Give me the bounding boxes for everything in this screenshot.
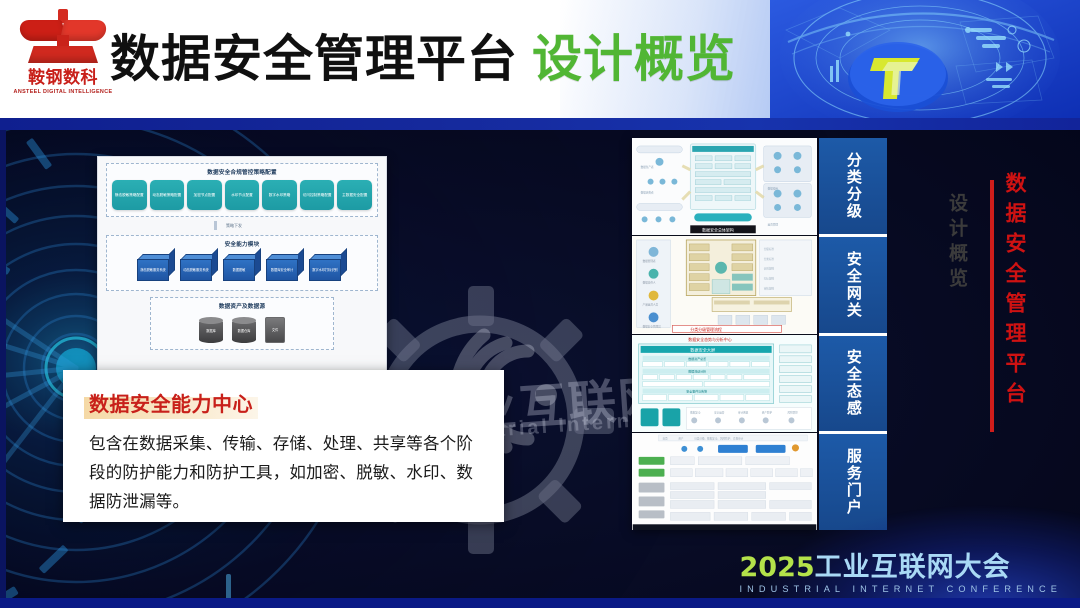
svg-text:审核规则: 审核规则 <box>764 287 775 291</box>
policy-chip[interactable]: 水印节点配置 <box>225 180 260 210</box>
page-title-main: 数据安全管理平台 <box>110 34 518 84</box>
conference-year: 2025 <box>740 552 815 583</box>
svg-text:数据安全管理员: 数据安全管理员 <box>643 325 661 329</box>
svg-text:识别规则: 识别规则 <box>764 267 775 271</box>
caption-body: 包含在数据采集、传输、存储、处理、共享等各个阶段的防护能力和防护工具，如加密、脱… <box>89 429 478 516</box>
server-rack-icon[interactable]: 文件 <box>265 317 285 343</box>
side-title: 数据安全管理平台 <box>1000 172 1030 417</box>
svg-text:数据管理者: 数据管理者 <box>643 259 656 263</box>
policy-chip-row: 静态脱敏策略配置 动态脱敏策略配置 加密节点配置 水印节点配置 数字水印策略 访… <box>112 180 372 210</box>
left-accent-bar <box>0 130 6 608</box>
svg-text:数据安全: 数据安全 <box>690 410 701 414</box>
svg-text:安全事件与告警: 安全事件与告警 <box>686 388 707 393</box>
database-cylinder-icon[interactable]: 数据库 <box>199 317 223 343</box>
svg-text:产品运营人员: 产品运营人员 <box>643 303 659 307</box>
page-title-accent: 设计概览 <box>532 34 736 84</box>
svg-text:数据使用: 数据使用 <box>768 187 779 191</box>
capability-cube-label: 动态脱敏服务系统 <box>180 259 212 281</box>
capability-cube-label: 静态脱敏服务系统 <box>137 259 169 281</box>
svg-text:首页: 首页 <box>662 436 668 440</box>
database-cylinder-icon[interactable]: 数据仓库 <box>232 317 256 343</box>
svg-text:资产: 资产 <box>678 436 684 440</box>
svg-text:数据流动分析: 数据流动分析 <box>688 368 706 373</box>
data-security-architecture-thumb[interactable]: 数据生产者数据消费者 数据使用运营管理 数据安全总体架构 <box>632 138 817 236</box>
bottom-accent-bar <box>0 598 1080 608</box>
data-asset-section: 数据资产及数据源 数据库 数据仓库 文件 <box>150 297 334 350</box>
thumb-title: 数据安全态势与分析中心 <box>688 336 732 341</box>
svg-text:风险管控: 风险管控 <box>788 410 799 414</box>
asset-store-label: 数据仓库 <box>232 328 256 333</box>
page-title: 数据安全管理平台 设计概览 <box>110 20 736 98</box>
policy-chip[interactable]: 访问控制策略配置 <box>300 180 335 210</box>
svg-text:数据责任人: 数据责任人 <box>643 281 656 285</box>
tab-gateway[interactable]: 安全网关 <box>819 237 887 336</box>
svg-text:运营管理: 运营管理 <box>768 222 779 226</box>
anshan-steel-logo-icon <box>14 9 112 67</box>
policy-chip[interactable]: 主数据安全配置 <box>337 180 372 210</box>
capability-cube-label: 数据库安全审计 <box>266 259 298 281</box>
logo-name-cn: 鞍钢数科 <box>14 68 112 88</box>
svg-text:打标规则: 打标规则 <box>764 277 775 281</box>
slide-header: 鞍钢数科 ANSTEEL DIGITAL INTELLIGENCE 数据安全管理… <box>0 0 1080 118</box>
security-capability-diagram: 数据安全合规管控策略配置 静态脱敏策略配置 动态脱敏策略配置 加密节点配置 水印… <box>97 156 387 380</box>
data-classification-flow-thumb[interactable]: 数据管理者数据责任人 产品运营人员数据安全管理员 <box>632 236 817 334</box>
capability-cube[interactable]: 动态脱敏服务系统 <box>180 254 218 281</box>
header-blue-rule <box>0 118 1080 130</box>
policy-chip[interactable]: 数字水印策略 <box>262 180 297 210</box>
side-subtitle-text: 设计概览 <box>944 193 971 293</box>
svg-text:数据生产者: 数据生产者 <box>641 165 654 169</box>
capability-cube[interactable]: 数据脱敏 <box>223 254 261 281</box>
conference-name-en: INDUSTRIAL INTERNET CONFERENCE <box>740 584 1062 594</box>
logo-name-en: ANSTEEL DIGITAL INTELLIGENCE <box>13 88 113 96</box>
capability-section-caption: 安全能力模块 <box>112 240 372 248</box>
slide-root: 鞍钢数科 ANSTEEL DIGITAL INTELLIGENCE 数据安全管理… <box>0 0 1080 608</box>
policy-chip[interactable]: 加密节点配置 <box>187 180 222 210</box>
capability-cube[interactable]: 静态脱敏服务系统 <box>137 254 175 281</box>
company-logo: 鞍钢数科 ANSTEEL DIGITAL INTELLIGENCE <box>14 9 112 109</box>
policy-section-caption: 数据安全合规管控策略配置 <box>112 168 372 176</box>
asset-store-label: 文件 <box>265 327 285 332</box>
thumb-title: 数据安全总体架构 <box>702 227 734 232</box>
security-situation-dashboard-thumb[interactable]: 数据安全态势与分析中心 数据安全大屏 数据资产总览 数据流动分析 <box>632 335 817 433</box>
side-title-rule <box>990 180 994 432</box>
policy-chip[interactable]: 静态脱敏策略配置 <box>112 180 147 210</box>
asset-store-row: 数据库 数据仓库 文件 <box>156 314 328 343</box>
tab-situation[interactable]: 安全态感 <box>819 336 887 435</box>
policy-chip[interactable]: 动态脱敏策略配置 <box>150 180 185 210</box>
side-title-text: 数据安全管理平台 <box>1000 172 1030 412</box>
svg-text:分类分级、数据安全、风险防护、合规审计: 分类分级、数据安全、风险防护、合规审计 <box>694 436 743 440</box>
svg-text:分类标准: 分类标准 <box>764 257 775 261</box>
svg-text:安全运营: 安全运营 <box>714 410 725 414</box>
conference-logo: 2025工业互联网大会 INDUSTRIAL INTERNET CONFEREN… <box>740 554 1062 594</box>
conference-name-cn: 工业互联网大会 <box>815 552 1011 583</box>
svg-text:数据消费者: 数据消费者 <box>641 191 654 195</box>
capability-cube[interactable]: 数字水印打标识别 <box>309 254 347 281</box>
capability-cube[interactable]: 数据库安全审计 <box>266 254 304 281</box>
svg-text:审计溯源: 审计溯源 <box>738 410 749 414</box>
flow-arrow-icon <box>214 221 217 230</box>
tab-classification[interactable]: 分类分级 <box>819 138 887 237</box>
policy-config-section: 数据安全合规管控策略配置 静态脱敏策略配置 动态脱敏策略配置 加密节点配置 水印… <box>106 163 378 217</box>
svg-text:数据安全大屏: 数据安全大屏 <box>690 346 715 352</box>
svg-text:数据资产总览: 数据资产总览 <box>688 355 706 360</box>
asset-store-label: 数据库 <box>199 328 223 333</box>
capability-module-section: 安全能力模块 静态脱敏服务系统 动态脱敏服务系统 数据脱敏 数据库安全审计 数字… <box>106 235 378 291</box>
tab-label: 安全态感 <box>845 349 861 417</box>
capability-cube-label: 数据脱敏 <box>223 259 255 281</box>
section-tabs: 分类分级 安全网关 安全态感 服务门户 <box>819 138 887 530</box>
policy-flow-arrow: 策略下发 <box>106 221 378 233</box>
thumb-title: 分类分级管理流程 <box>690 327 722 332</box>
caption-heading: 数据安全能力中心 <box>89 388 253 417</box>
side-subtitle: 设计概览 <box>944 193 971 298</box>
caption-card: 数据安全能力中心 包含在数据采集、传输、存储、处理、共享等各个阶段的防护能力和防… <box>63 370 504 522</box>
capability-cube-label: 数字水印打标识别 <box>309 259 341 281</box>
tab-label: 分类分级 <box>845 152 861 220</box>
svg-text:资产防护: 资产防护 <box>762 410 773 414</box>
tab-label: 安全网关 <box>845 251 861 319</box>
capability-cube-row: 静态脱敏服务系统 动态脱敏服务系统 数据脱敏 数据库安全审计 数字水印打标识别 <box>112 252 372 284</box>
screenshot-thumbnail-stack: 数据生产者数据消费者 数据使用运营管理 数据安全总体架构 数据管理者数据责任人 … <box>632 138 817 530</box>
svg-text:分级标准: 分级标准 <box>764 247 775 251</box>
asset-section-caption: 数据资产及数据源 <box>156 302 328 310</box>
flow-arrow-label: 策略下发 <box>226 223 242 229</box>
tech-globe-graphic-icon <box>770 0 1080 118</box>
